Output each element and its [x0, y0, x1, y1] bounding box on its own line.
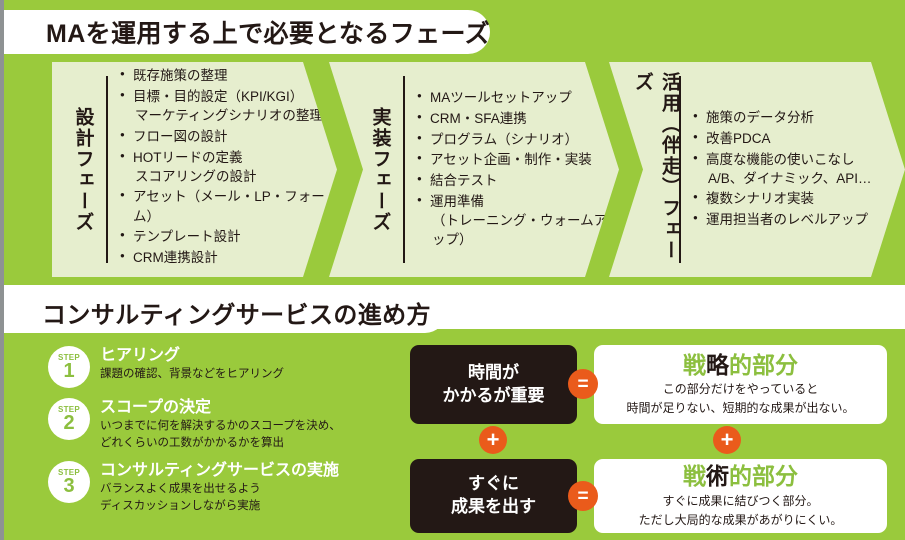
- bullet-main: 施策のデータ分析: [706, 110, 814, 125]
- plus-icon: +: [479, 426, 507, 454]
- title-part-pre: 戦: [683, 463, 706, 489]
- dark-box-line1: すぐに: [468, 473, 519, 496]
- bullet-main: アセット（メール・LP・フォーム）: [133, 189, 325, 223]
- equals-icon: =: [568, 369, 598, 399]
- bullet-main: 高度な機能の使いこなし: [706, 152, 855, 167]
- phase-bullet-list-utilization: 施策のデータ分析 改善PDCA 高度な機能の使いこなしA/B、ダイナミック、AP…: [681, 62, 905, 277]
- list-item: プログラム（シナリオ）: [417, 130, 611, 149]
- list-item: フロー図の設計: [120, 127, 329, 146]
- bullet-main: 運用準備: [430, 194, 484, 209]
- list-item[interactable]: STEP 2 スコープの決定 いつまでに何を解決するかのスコープを決め、 どれく…: [48, 397, 398, 451]
- list-item: 改善PDCA: [693, 129, 897, 148]
- step-body: ヒアリング 課題の確認、背景などをヒアリング: [100, 345, 284, 383]
- bullet-main: MAツールセットアップ: [430, 90, 572, 105]
- list-item[interactable]: STEP 3 コンサルティングサービスの実施 バランスよく成果を出せるよう ディ…: [48, 460, 398, 514]
- list-item: HOTリードの定義スコアリングの設計: [120, 148, 329, 186]
- phases-section-title-ribbon: MAを運用する上で必要となるフェーズ: [4, 10, 490, 54]
- phase-card-utilization[interactable]: 活用（伴走）フェーズ 施策のデータ分析 改善PDCA 高度な機能の使いこなしA/…: [609, 62, 905, 277]
- step-title: スコープの決定: [100, 398, 341, 418]
- bullet-main: 改善PDCA: [706, 131, 771, 146]
- comparison-dark-box-strategic[interactable]: 時間が かかるが重要: [410, 345, 577, 424]
- bullet-sub: マーケティングシナリオの整理: [133, 106, 329, 125]
- white-box-title-tactical: 戦術的部分: [683, 463, 798, 491]
- bullet-main: 目標・目的設定（KPI/KGI）: [133, 89, 303, 104]
- title-part-accent: 術: [706, 463, 729, 489]
- phases-section-title: MAを運用する上で必要となるフェーズ: [46, 14, 490, 50]
- phase-card-implementation[interactable]: 実装フェーズ MAツールセットアップ CRM・SFA連携 プログラム（シナリオ）…: [329, 62, 619, 277]
- bullet-main: HOTリードの定義: [133, 150, 243, 165]
- list-item[interactable]: STEP 1 ヒアリング 課題の確認、背景などをヒアリング: [48, 345, 398, 388]
- title-part-post: 的部分: [729, 352, 798, 378]
- infographic-page: MAを運用する上で必要となるフェーズ 設計フェーズ 既存施策の整理 目標・目的設…: [0, 0, 905, 540]
- list-item: 結合テスト: [417, 171, 611, 190]
- step-body: コンサルティングサービスの実施 バランスよく成果を出せるよう ディスカッションし…: [100, 460, 339, 514]
- white-box-desc-line1: この部分だけをやっていると: [663, 381, 818, 398]
- list-item: アセット企画・制作・実装: [417, 150, 611, 169]
- step-number: 2: [63, 413, 74, 433]
- white-box-desc-line1: すぐに成果に結びつく部分。: [662, 493, 818, 510]
- step-description-line1: バランスよく成果を出せるよう: [100, 482, 339, 498]
- phase-label-utilization: 活用（伴走）フェーズ: [633, 62, 679, 277]
- list-item: 複数シナリオ実装: [693, 189, 897, 208]
- phase-label-implementation: 実装フェーズ: [357, 62, 403, 277]
- list-item: MAツールセットアップ: [417, 88, 611, 107]
- step-number-badge: STEP 3: [48, 461, 90, 503]
- step-title: ヒアリング: [100, 346, 284, 366]
- consulting-section-title-ribbon: コンサルティングサービスの進め方: [0, 291, 446, 333]
- bullet-main: プログラム（シナリオ）: [430, 132, 578, 147]
- step-description-line1: 課題の確認、背景などをヒアリング: [100, 367, 284, 383]
- title-part-post: 的部分: [729, 463, 798, 489]
- bullet-main: CRM連携設計: [133, 250, 218, 265]
- bullet-main: 複数シナリオ実装: [706, 191, 814, 206]
- bullet-main: 既存施策の整理: [133, 68, 228, 83]
- consulting-section-title: コンサルティングサービスの進め方: [42, 295, 431, 330]
- plus-icon: +: [713, 426, 741, 454]
- step-number-badge: STEP 2: [48, 398, 90, 440]
- list-item: 目標・目的設定（KPI/KGI）マーケティングシナリオの整理: [120, 87, 329, 125]
- bullet-sub: スコアリングの設計: [133, 167, 329, 186]
- step-number-badge: STEP 1: [48, 346, 90, 388]
- step-number: 1: [63, 361, 74, 381]
- phase-card-design[interactable]: 設計フェーズ 既存施策の整理 目標・目的設定（KPI/KGI）マーケティングシナ…: [52, 62, 337, 277]
- bullet-sub: A/B、ダイナミック、API…: [706, 169, 897, 188]
- bullet-main: テンプレート設計: [133, 229, 241, 244]
- list-item: CRM連携設計: [120, 248, 329, 267]
- list-item: 運用準備（トレーニング・ウォームアップ）: [417, 192, 611, 249]
- step-body: スコープの決定 いつまでに何を解決するかのスコープを決め、 どれくらいの工数がか…: [100, 397, 341, 451]
- white-box-desc-line2: 時間が足りない、短期的な成果が出ない。: [626, 400, 854, 417]
- white-box-title-strategic: 戦略的部分: [683, 352, 798, 380]
- title-part-accent: 略: [706, 352, 729, 378]
- step-description-line2: どれくらいの工数がかかるかを算出: [100, 436, 341, 452]
- dark-box-line2: かかるが重要: [443, 385, 545, 408]
- list-item: 既存施策の整理: [120, 66, 329, 85]
- step-list: STEP 1 ヒアリング 課題の確認、背景などをヒアリング STEP 2 スコー…: [48, 345, 398, 523]
- comparison-white-box-strategic[interactable]: 戦略的部分 この部分だけをやっていると 時間が足りない、短期的な成果が出ない。: [594, 345, 887, 424]
- step-description-line2: ディスカッションしながら実施: [100, 499, 339, 515]
- step-title: コンサルティングサービスの実施: [100, 461, 339, 481]
- bullet-main: 運用担当者のレベルアップ: [706, 212, 868, 227]
- title-part-pre: 戦: [683, 352, 706, 378]
- comparison-white-box-tactical[interactable]: 戦術的部分 すぐに成果に結びつく部分。 ただし大局的な成果があがりにくい。: [594, 459, 887, 533]
- phase-bullet-list-implementation: MAツールセットアップ CRM・SFA連携 プログラム（シナリオ） アセット企画…: [405, 62, 619, 277]
- equals-icon: =: [568, 481, 598, 511]
- list-item: アセット（メール・LP・フォーム）: [120, 187, 329, 225]
- list-item: テンプレート設計: [120, 227, 329, 246]
- phases-section: MAを運用する上で必要となるフェーズ 設計フェーズ 既存施策の整理 目標・目的設…: [4, 0, 905, 285]
- list-item: 高度な機能の使いこなしA/B、ダイナミック、API…: [693, 150, 897, 188]
- bullet-main: フロー図の設計: [133, 129, 228, 144]
- list-item: 施策のデータ分析: [693, 108, 897, 127]
- dark-box-line1: 時間が: [468, 362, 519, 385]
- bullet-main: アセット企画・制作・実装: [430, 152, 592, 167]
- step-number: 3: [63, 476, 74, 496]
- bullet-main: CRM・SFA連携: [430, 111, 527, 126]
- comparison-dark-box-tactical[interactable]: すぐに 成果を出す: [410, 459, 577, 533]
- phase-label-design: 設計フェーズ: [60, 62, 106, 277]
- dark-box-line2: 成果を出す: [451, 496, 536, 519]
- step-description-line1: いつまでに何を解決するかのスコープを決め、: [100, 419, 341, 435]
- phase-bullet-list-design: 既存施策の整理 目標・目的設定（KPI/KGI）マーケティングシナリオの整理 フ…: [108, 62, 337, 277]
- list-item: CRM・SFA連携: [417, 109, 611, 128]
- left-edge-rule: [0, 0, 4, 540]
- bullet-main: 結合テスト: [430, 173, 498, 188]
- white-box-desc-line2: ただし大局的な成果があがりにくい。: [639, 512, 843, 529]
- list-item: 運用担当者のレベルアップ: [693, 210, 897, 229]
- bullet-sub: （トレーニング・ウォームアップ）: [430, 211, 611, 249]
